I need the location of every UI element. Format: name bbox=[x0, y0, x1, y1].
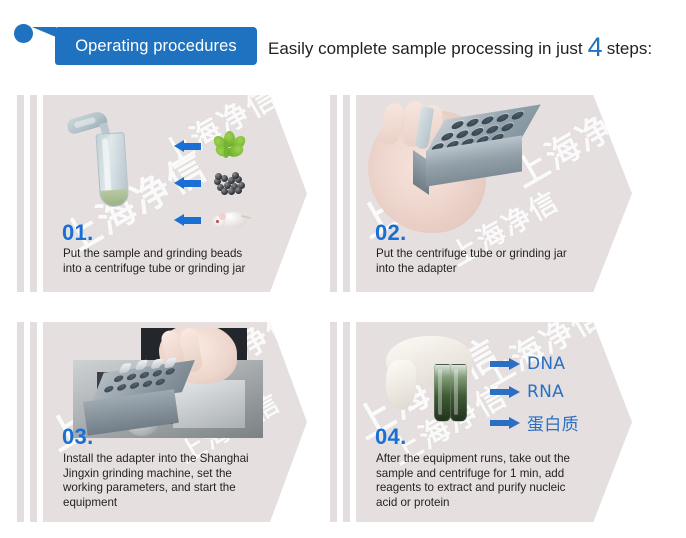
card-accent-bar bbox=[30, 95, 37, 292]
centrifuge-tube-icon bbox=[65, 113, 145, 218]
badge-tail-icon bbox=[32, 27, 56, 49]
sample-input-beads-row bbox=[174, 170, 246, 194]
right-arrow-icon bbox=[490, 417, 520, 429]
adapter-insertion-photo bbox=[364, 101, 554, 231]
tagline-after: steps: bbox=[607, 39, 652, 59]
left-arrow-icon bbox=[174, 140, 201, 151]
left-arrow-icon bbox=[174, 177, 201, 188]
step-caption: After the equipment runs, take out the s… bbox=[376, 452, 614, 510]
step-number: 02. bbox=[375, 220, 406, 246]
output-row-dna: DNA bbox=[490, 354, 565, 374]
step-card-3: 上海净信 上海净信 上海净信 bbox=[17, 322, 307, 522]
output-label: DNA bbox=[527, 354, 565, 374]
card-body: 上海净信 上海净信 上海净信 DNA RNA 蛋白质 04. bbox=[356, 322, 632, 522]
tagline-step-count: 4 bbox=[583, 32, 607, 63]
step-caption: Put the centrifuge tube or grinding jar … bbox=[376, 247, 616, 276]
step-card-1: 上海净信 上海净信 bbox=[17, 95, 307, 292]
sample-tube-icon bbox=[450, 364, 467, 422]
sample-input-leaf-row bbox=[174, 131, 244, 159]
badge-label: Operating procedures bbox=[75, 37, 237, 56]
header-dot-icon bbox=[14, 24, 33, 43]
step-card-2: 上海净信 上海净信 上海净信 bbox=[330, 95, 630, 292]
step-card-4: 上海净信 上海净信 上海净信 DNA RNA 蛋白质 04. bbox=[330, 322, 630, 522]
step-number: 01. bbox=[62, 220, 93, 246]
right-arrow-icon bbox=[490, 386, 520, 398]
header-tagline: Easily complete sample processing in jus… bbox=[268, 30, 652, 61]
output-label: RNA bbox=[527, 382, 564, 402]
step-number: 03. bbox=[62, 424, 93, 450]
tagline-before: Easily complete sample processing in jus… bbox=[268, 39, 583, 59]
header: Operating procedures Easily complete sam… bbox=[0, 0, 686, 92]
step-caption: Install the adapter into the Shanghai Ji… bbox=[63, 452, 289, 510]
step-caption: Put the sample and grinding beads into a… bbox=[63, 247, 291, 276]
right-arrow-icon bbox=[490, 358, 520, 370]
card-accent-bar bbox=[330, 322, 337, 522]
card-accent-bar bbox=[17, 322, 24, 522]
card-accent-bar bbox=[343, 95, 350, 292]
sample-input-mouse-row bbox=[174, 207, 250, 231]
card-accent-bar bbox=[330, 95, 337, 292]
left-arrow-icon bbox=[174, 214, 201, 225]
adapter-block-icon bbox=[426, 127, 522, 190]
infographic-root: Operating procedures Easily complete sam… bbox=[0, 0, 686, 538]
output-label: 蛋白质 bbox=[527, 410, 579, 435]
output-row-protein: 蛋白质 bbox=[490, 410, 579, 435]
operating-procedures-badge: Operating procedures bbox=[55, 27, 257, 65]
card-body: 上海净信 上海净信 上海净信 bbox=[356, 95, 632, 292]
card-body: 上海净信 上海净信 上海净信 bbox=[43, 322, 307, 522]
leaf-icon bbox=[214, 131, 244, 159]
grinding-machine-photo bbox=[73, 328, 263, 438]
sample-tubes-photo bbox=[386, 330, 506, 430]
step-number: 04. bbox=[375, 424, 406, 450]
mouse-icon bbox=[212, 207, 250, 231]
sample-tube-icon bbox=[434, 364, 451, 422]
card-body: 上海净信 上海净信 bbox=[43, 95, 307, 292]
grinding-beads-icon bbox=[212, 170, 246, 194]
card-accent-bar bbox=[343, 322, 350, 522]
card-accent-bar bbox=[30, 322, 37, 522]
card-accent-bar bbox=[17, 95, 24, 292]
output-row-rna: RNA bbox=[490, 382, 564, 402]
